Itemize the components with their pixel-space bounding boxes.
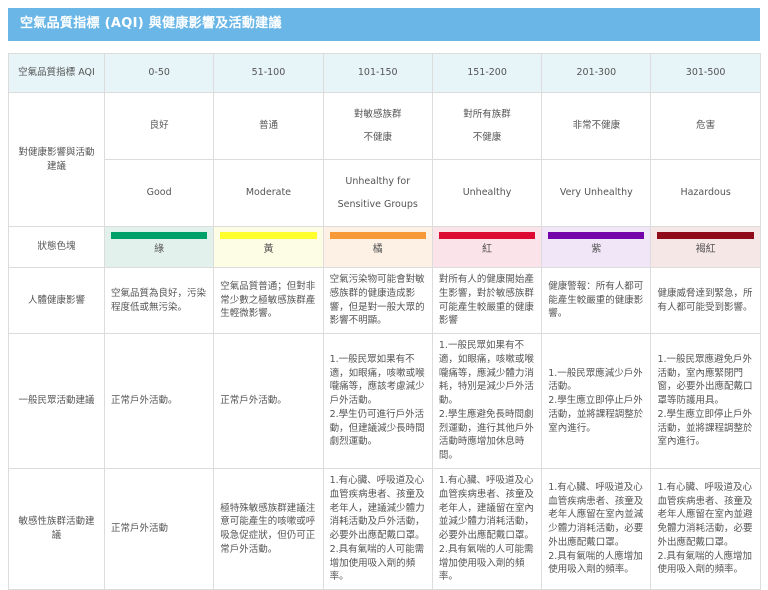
row-label-health-activity: 對健康影響與活動建議 [9,93,105,227]
aqi-info-page: 空氣品質指標 (AQI) 與健康影響及活動建議 空氣品質指標 AQI 0-50 … [0,0,768,541]
human-health-151-200: 對所有人的健康開始產生影響，對於敏感族群可能產生較嚴重的健康影響 [432,268,541,334]
row-label-human-health: 人體健康影響 [9,268,105,334]
sensitive-groups-101-150: 1.有心臟、呼吸道及心血管疾病患者、孩童及老年人，建議減少體力消耗活動及戶外活動… [323,469,432,590]
table-row-sensitive-groups: 敏感性族群活動建議 正常戶外活動 極特殊敏感族群建議注意可能產生的咳嗽或呼吸急促… [9,469,761,590]
status-en-51-100: Moderate [214,160,323,227]
row-label-sensitive-groups: 敏感性族群活動建議 [9,469,105,590]
color-name-red: 紅 [439,239,535,262]
color-name-yellow: 黃 [220,239,316,262]
aqi-range-0-50: 0-50 [105,54,214,93]
color-bar-green [111,232,207,239]
color-name-green: 綠 [111,239,207,262]
color-bar-orange [330,232,426,239]
color-name-maroon: 褐紅 [657,239,753,262]
human-health-0-50: 空氣品質為良好，污染程度低或無污染。 [105,268,214,334]
general-public-101-150: 1.一般民眾如果有不適，如眼痛，咳嗽或喉嚨痛等，應該考慮減少戶外活動。2.學生仍… [323,334,432,469]
table-row-status-zh: 對健康影響與活動建議 良好 普通 對敏感族群不健康 對所有族群不健康 非常不健康… [9,93,761,160]
human-health-201-300: 健康警報：所有人都可能產生較嚴重的健康影響。 [542,268,651,334]
color-name-purple: 紫 [548,239,644,262]
human-health-51-100: 空氣品質普通；但對非常少數之極敏感族群產生輕微影響。 [214,268,323,334]
status-en-0-50: Good [105,160,214,227]
status-zh-101-150: 對敏感族群不健康 [323,93,432,160]
status-zh-51-100: 普通 [214,93,323,160]
sensitive-groups-151-200: 1.有心臟、呼吸道及心血管疾病患者、孩童及老年人，建議留在室內並減少體力消耗活動… [432,469,541,590]
sensitive-groups-201-300: 1.有心臟、呼吸道及心血管疾病患者、孩童及老年人應留在室內並減少體力消耗活動，必… [542,469,651,590]
row-label-color-block: 狀態色塊 [9,227,105,268]
table-row-status-en: Good Moderate Unhealthy forSensitive Gro… [9,160,761,227]
table-row-human-health: 人體健康影響 空氣品質為良好，污染程度低或無污染。 空氣品質普通；但對非常少數之… [9,268,761,334]
aqi-table: 空氣品質指標 AQI 0-50 51-100 101-150 151-200 2… [8,53,761,590]
color-swatch-orange: 橘 [323,227,432,268]
general-public-151-200: 1.一般民眾如果有不適，如眼痛，咳嗽或喉嚨痛等，應減少體力消耗，特別是減少戶外活… [432,334,541,469]
row-label-general-public: 一般民眾活動建議 [9,334,105,469]
status-zh-0-50: 良好 [105,93,214,160]
status-en-201-300: Very Unhealthy [542,160,651,227]
color-swatch-maroon: 褐紅 [651,227,760,268]
title-table-spacer [8,41,760,53]
aqi-range-51-100: 51-100 [214,54,323,93]
color-swatch-red: 紅 [432,227,541,268]
sensitive-groups-51-100: 極特殊敏感族群建議注意可能產生的咳嗽或呼吸急促症狀，但仍可正常戶外活動。 [214,469,323,590]
aqi-range-201-300: 201-300 [542,54,651,93]
general-public-301-500: 1.一般民眾應避免戶外活動，室內應緊閉門窗，必要外出應配戴口罩等防護用具。2.學… [651,334,760,469]
general-public-0-50: 正常戶外活動。 [105,334,214,469]
status-zh-151-200: 對所有族群不健康 [432,93,541,160]
sensitive-groups-301-500: 1.有心臟、呼吸道及心血管疾病患者、孩童及老年人應留在室內並避免體力消耗活動，必… [651,469,760,590]
human-health-101-150: 空氣污染物可能會對敏感族群的健康造成影響，但是對一般大眾的影響不明顯。 [323,268,432,334]
status-en-101-150: Unhealthy forSensitive Groups [323,160,432,227]
table-row-aqi-range: 空氣品質指標 AQI 0-50 51-100 101-150 151-200 2… [9,54,761,93]
page-title: 空氣品質指標 (AQI) 與健康影響及活動建議 [8,8,760,41]
table-row-color-block: 狀態色塊 綠 黃 橘 紅 紫 [9,227,761,268]
status-en-301-500: Hazardous [651,160,760,227]
color-name-orange: 橘 [330,239,426,262]
status-zh-301-500: 危害 [651,93,760,160]
aqi-range-301-500: 301-500 [651,54,760,93]
color-swatch-purple: 紫 [542,227,651,268]
color-swatch-green: 綠 [105,227,214,268]
general-public-201-300: 1.一般民眾應減少戶外活動。2.學生應立即停止戶外活動，並將課程調整於室內進行。 [542,334,651,469]
color-bar-red [439,232,535,239]
aqi-range-101-150: 101-150 [323,54,432,93]
sensitive-groups-0-50: 正常戶外活動 [105,469,214,590]
color-bar-purple [548,232,644,239]
aqi-range-151-200: 151-200 [432,54,541,93]
human-health-301-500: 健康威脅達到緊急，所有人都可能受到影響。 [651,268,760,334]
row-label-aqi: 空氣品質指標 AQI [9,54,105,93]
color-bar-maroon [657,232,753,239]
general-public-51-100: 正常戶外活動。 [214,334,323,469]
status-en-151-200: Unhealthy [432,160,541,227]
status-zh-201-300: 非常不健康 [542,93,651,160]
color-bar-yellow [220,232,316,239]
table-row-general-public: 一般民眾活動建議 正常戶外活動。 正常戶外活動。 1.一般民眾如果有不適，如眼痛… [9,334,761,469]
color-swatch-yellow: 黃 [214,227,323,268]
